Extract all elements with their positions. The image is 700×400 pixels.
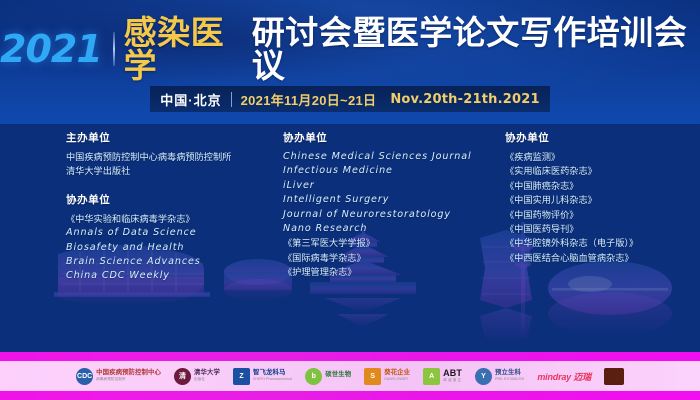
list-item: 《中国肺癌杂志》 — [505, 179, 695, 193]
sponsor-logo-sunflower: S 葵花企业 SUNFLOWER — [364, 365, 410, 387]
list-item: 《中国实用儿科杂志》 — [505, 193, 695, 207]
list-item: 《中西医结合心脑血管病杂志》 — [505, 251, 695, 265]
sponsor-name: 硕世生物 — [325, 372, 351, 378]
tsinghua-logo-icon: 清 — [174, 368, 191, 385]
sponsor-name: 中国疾病预防控制中心 — [96, 370, 161, 376]
list-item: Annals of Data Science — [66, 226, 276, 240]
sponsor-subname: 出版社 — [194, 378, 220, 382]
conference-banner: 2021 感染医学 研讨会暨医学论文写作培训会议 中国·北京 2021年11月2… — [0, 0, 700, 400]
list-item: 《疾病监测》 — [505, 150, 695, 164]
sponsor-logo-bioperfectus: b 硕世生物 — [305, 365, 351, 387]
sponsor-name: 智飞龙科马 — [253, 370, 292, 376]
list-item: 《中华实验和临床病毒学杂志》 — [66, 212, 276, 226]
organizer-column-1: 主办单位 中国疾病预防控制中心病毒病预防控制所 清华大学出版社 协办单位 《中华… — [66, 130, 276, 284]
list-item: Chinese Medical Sciences Journal — [283, 150, 498, 164]
title-gold-part: 感染医学 — [124, 16, 252, 82]
sponsor-logo-tsinghua: 清 清华大学 出版社 — [174, 365, 220, 387]
sponsor-name: 清华大学 — [194, 370, 220, 376]
list-item: Intelligent Surgery — [283, 193, 498, 207]
list-item: 《中华腔镜外科杂志（电子版）》 — [505, 236, 695, 250]
column-1-group-2-heading: 协办单位 — [66, 192, 276, 207]
list-item: China CDC Weekly — [66, 269, 276, 283]
list-item: Brain Science Advances — [66, 255, 276, 269]
list-item: Biosafety and Health — [66, 241, 276, 255]
sponsor-subname: PRE-ESTABLISH — [495, 378, 524, 382]
bioperfectus-logo-icon: b — [305, 368, 322, 385]
date-en-label: Nov.20th-21th.2021 — [390, 92, 539, 107]
sponsor-subname: 病毒病预防控制所 — [96, 378, 161, 382]
sponsor-logo-zhifei: Z 智飞龙科马 ZHIFEI Pharmaceutical — [233, 365, 292, 387]
meta-row: 中国·北京 2021年11月20日~21日 Nov.20th-21th.2021 — [0, 86, 700, 112]
title-white-part: 研讨会暨医学论文写作培训会议 — [252, 16, 700, 82]
sponsor-logo-yuli: Y 预立生科 PRE-ESTABLISH — [475, 365, 524, 387]
list-item: 中国疾病预防控制中心病毒病预防控制所 — [66, 150, 276, 164]
organizer-column-2: 协办单位 Chinese Medical Sciences Journal In… — [283, 130, 498, 280]
year-label: 2021 — [0, 30, 102, 68]
column-3-heading: 协办单位 — [505, 130, 695, 145]
meta-separator — [231, 92, 232, 107]
list-item: Journal of Neurorestoratology — [283, 208, 498, 222]
yuli-logo-icon: Y — [475, 368, 492, 385]
unnamed-logo-icon — [604, 368, 624, 385]
column-2-heading: 协办单位 — [283, 130, 498, 145]
column-1-group-1-heading: 主办单位 — [66, 130, 276, 145]
sponsor-logo-mindray: mindray 迈瑞 — [537, 365, 591, 387]
organizers-columns: 主办单位 中国疾病预防控制中心病毒病预防控制所 清华大学出版社 协办单位 《中华… — [0, 124, 700, 352]
abt-logo-icon: A — [423, 368, 440, 385]
list-item: 《第三军医大学学报》 — [283, 236, 498, 250]
sponsor-logo-abt: A ABT 卓 诚 惠 生 — [423, 365, 462, 387]
list-item: 清华大学出版社 — [66, 164, 276, 178]
list-item: 《实用临床医药杂志》 — [505, 164, 695, 178]
list-item: 《中国药物评价》 — [505, 208, 695, 222]
list-item: Infectious Medicine — [283, 164, 498, 178]
cdc-logo-icon: CDC — [76, 368, 93, 385]
meta-box: 中国·北京 2021年11月20日~21日 Nov.20th-21th.2021 — [150, 86, 549, 112]
sponsor-subname: SUNFLOWER — [384, 378, 410, 382]
sponsor-name: 预立生科 — [495, 370, 524, 376]
organizer-column-3: 协办单位 《疾病监测》 《实用临床医药杂志》 《中国肺癌杂志》 《中国实用儿科杂… — [505, 130, 695, 265]
sponsor-logos-row: CDC 中国疾病预防控制中心 病毒病预防控制所 清 清华大学 出版社 Z 智飞龙… — [0, 361, 700, 391]
sponsor-name: 葵花企业 — [384, 370, 410, 376]
list-item: Nano Research — [283, 222, 498, 236]
list-item: iLiver — [283, 179, 498, 193]
sponsor-logo-unnamed — [604, 365, 624, 387]
location-label: 中国·北京 — [160, 90, 221, 109]
sponsor-name: mindray 迈瑞 — [537, 370, 591, 383]
zhifei-logo-icon: Z — [233, 368, 250, 385]
sponsor-subname: 卓 诚 惠 生 — [443, 379, 462, 383]
sponsor-name: ABT — [443, 369, 462, 378]
sponsor-logo-cdc: CDC 中国疾病预防控制中心 病毒病预防控制所 — [76, 365, 161, 387]
list-item: 《国际病毒学杂志》 — [283, 251, 498, 265]
banner-header: 2021 感染医学 研讨会暨医学论文写作培训会议 中国·北京 2021年11月2… — [0, 0, 700, 124]
list-item: 《中国医药导刊》 — [505, 222, 695, 236]
title-divider — [113, 32, 115, 66]
title-row: 2021 感染医学 研讨会暨医学论文写作培训会议 — [0, 26, 700, 72]
sponsor-subname: ZHIFEI Pharmaceutical — [253, 378, 292, 382]
sponsor-strip: CDC 中国疾病预防控制中心 病毒病预防控制所 清 清华大学 出版社 Z 智飞龙… — [0, 352, 700, 400]
date-cn-label: 2021年11月20日~21日 — [241, 90, 377, 109]
sunflower-logo-icon: S — [364, 368, 381, 385]
list-item: 《护理管理杂志》 — [283, 265, 498, 279]
